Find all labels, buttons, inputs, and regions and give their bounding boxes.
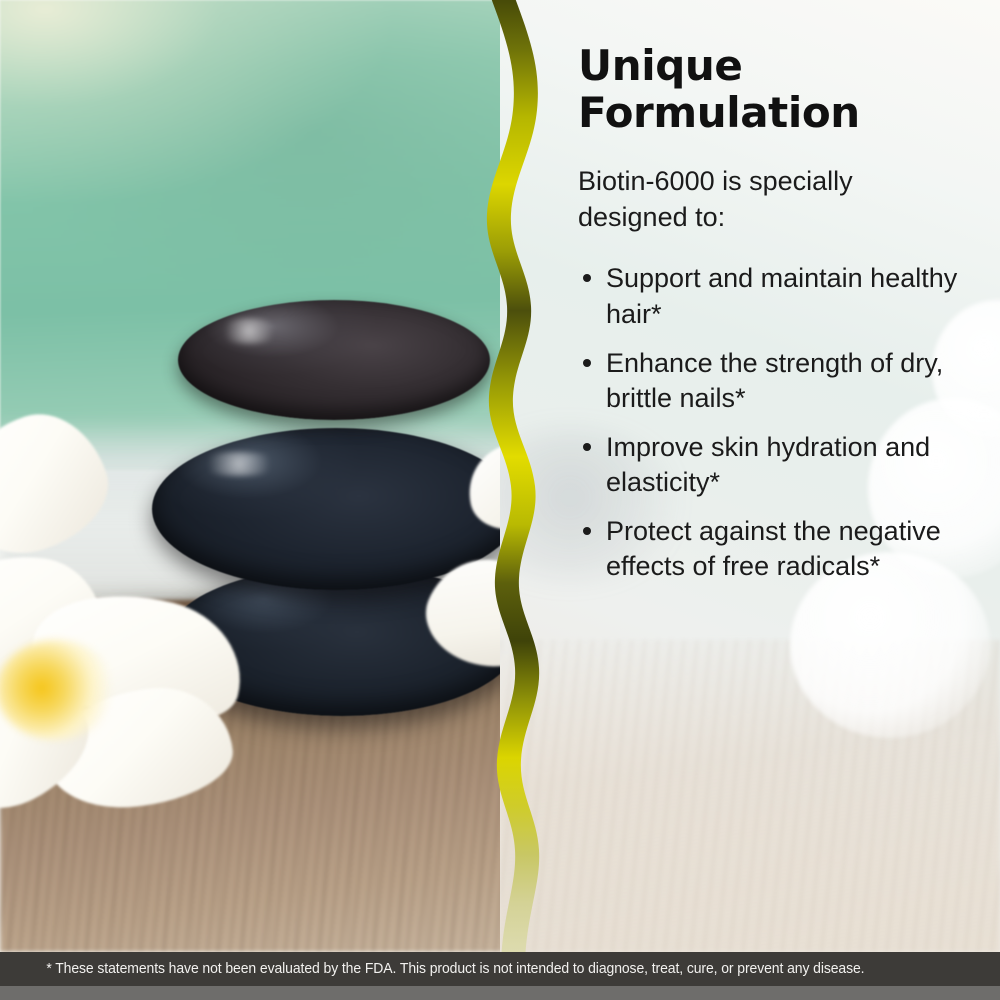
fda-disclaimer-text: * These statements have not been evaluat…: [0, 961, 864, 977]
benefit-text: Support and maintain healthy hair*: [606, 263, 957, 328]
stone-highlight: [196, 452, 282, 476]
bullet-icon: [583, 274, 591, 282]
footer-disclaimer-bar: * These statements have not been evaluat…: [0, 952, 1000, 1000]
footer-bottom-strip: [0, 986, 1000, 1000]
stone-top: [178, 300, 490, 420]
benefit-text: Protect against the negative effects of …: [606, 516, 941, 581]
bullet-icon: [583, 443, 591, 451]
list-item: Improve skin hydration and elasticity*: [578, 430, 982, 500]
footer-text-row: * These statements have not been evaluat…: [0, 952, 1000, 986]
bullet-icon: [583, 359, 591, 367]
headline-line-1: Unique: [578, 41, 742, 90]
list-item: Enhance the strength of dry, brittle nai…: [578, 346, 982, 416]
flower-center: [0, 640, 116, 740]
page-title: Unique Formulation: [578, 0, 982, 136]
headline-line-2: Formulation: [578, 88, 860, 137]
intro-text: Biotin-6000 is specially designed to:: [578, 136, 953, 235]
benefit-text: Enhance the strength of dry, brittle nai…: [606, 348, 943, 413]
benefit-text: Improve skin hydration and elasticity*: [606, 432, 930, 497]
divider-ribbon-path: [487, 0, 539, 952]
list-item: Support and maintain healthy hair*: [578, 261, 982, 331]
bullet-icon: [583, 527, 591, 535]
benefits-list: Support and maintain healthy hair* Enhan…: [578, 235, 982, 584]
list-item: Protect against the negative effects of …: [578, 514, 982, 584]
content-panel: Unique Formulation Biotin-6000 is specia…: [500, 0, 1000, 952]
stone-highlight: [216, 318, 282, 344]
wavy-gold-divider: [455, 0, 565, 952]
product-feature-image: Unique Formulation Biotin-6000 is specia…: [0, 0, 1000, 1000]
